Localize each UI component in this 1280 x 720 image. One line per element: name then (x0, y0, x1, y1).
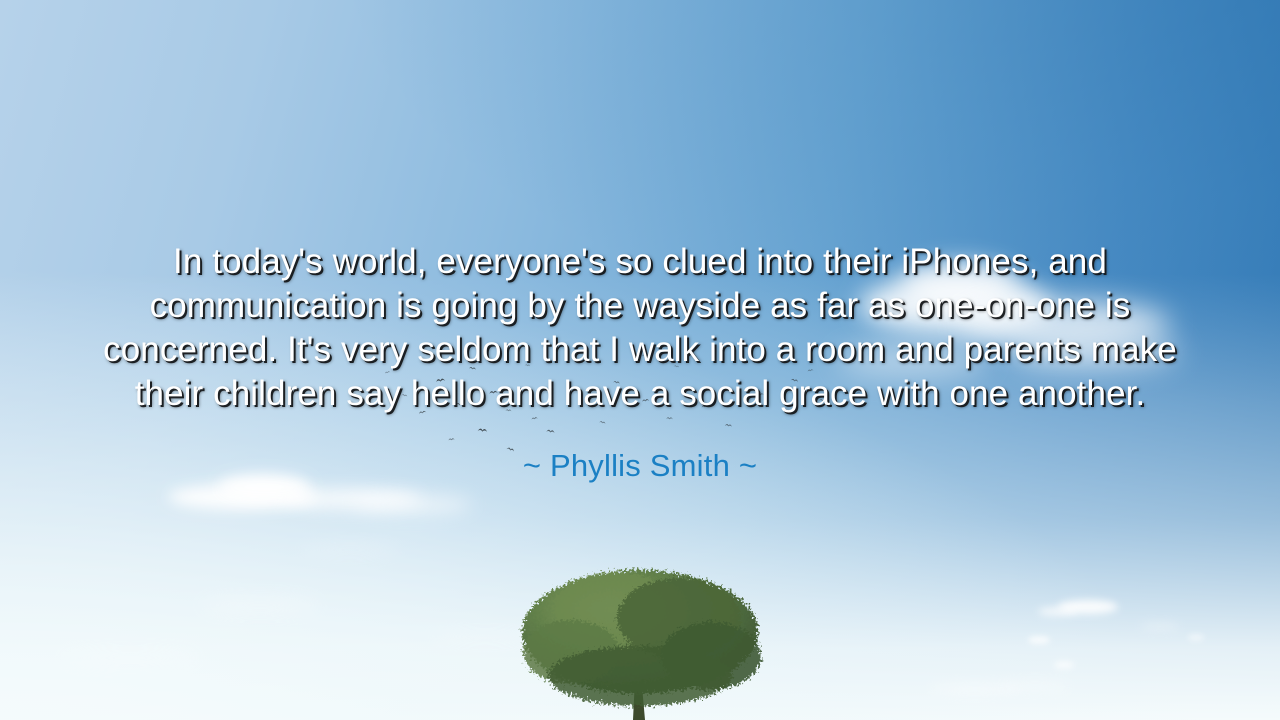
quote-block: In today's world, everyone's so clued in… (0, 240, 1280, 485)
oak-tree (511, 560, 769, 720)
quote-text: In today's world, everyone's so clued in… (100, 240, 1180, 416)
quote-image: In today's world, everyone's so clued in… (0, 0, 1280, 720)
quote-attribution: ~ Phyllis Smith ~ (100, 447, 1180, 485)
